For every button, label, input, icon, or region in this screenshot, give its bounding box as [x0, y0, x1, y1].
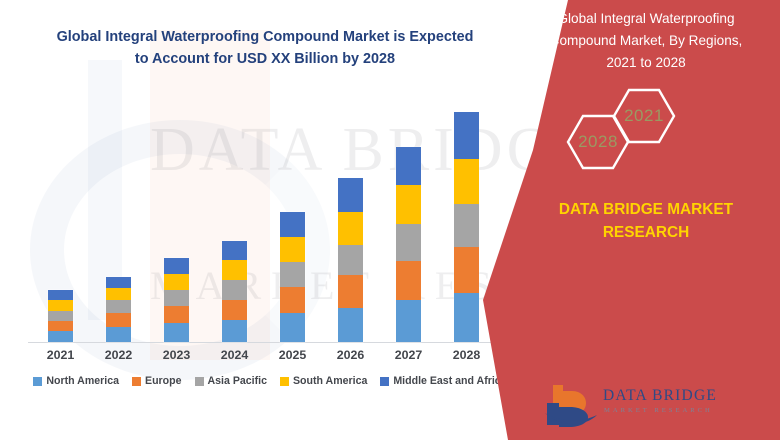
legend-label: South America [293, 375, 367, 387]
bar-2021 [48, 290, 73, 342]
legend-swatch-icon [33, 377, 42, 386]
bar-segment-north-america [280, 313, 305, 342]
bar-segment-asia-pacific [280, 262, 305, 287]
x-axis-label-2024: 2024 [206, 348, 264, 362]
bar-2027 [396, 147, 421, 342]
legend-item-europe[interactable]: Europe [132, 375, 182, 387]
bar-segment-north-america [396, 300, 421, 342]
side-panel-brand-line-2: RESEARCH [603, 224, 689, 241]
chart-title-line-2: to Account for USD XX Billion by 2028 [135, 51, 395, 67]
bar-2024 [222, 241, 247, 342]
bar-segment-middle-east-and-africa [338, 178, 363, 212]
hexagon-label-2021: 2021 [612, 102, 676, 130]
bar-segment-asia-pacific [396, 224, 421, 261]
chart-panel: Global Integral Waterproofing Compound M… [0, 0, 540, 440]
bar-segment-north-america [454, 293, 479, 342]
bar-segment-middle-east-and-africa [164, 258, 189, 274]
bar-segment-south-america [338, 212, 363, 245]
x-axis-tick-labels: 20212022202320242025202620272028 [20, 348, 520, 366]
bar-segment-north-america [106, 327, 131, 342]
legend-item-south-america[interactable]: South America [280, 375, 367, 387]
hexagon-label-2028: 2028 [566, 128, 630, 156]
bar-segment-asia-pacific [164, 290, 189, 306]
brand-logo-tagline: MARKET RESEARCH [604, 407, 713, 414]
bar-segment-middle-east-and-africa [48, 290, 73, 300]
bar-segment-europe [338, 275, 363, 308]
bar-segment-north-america [48, 331, 73, 342]
bar-segment-middle-east-and-africa [454, 112, 479, 159]
brand-logo-mark-icon [545, 383, 601, 429]
legend-item-north-america[interactable]: North America [33, 375, 119, 387]
side-panel-title-line-1: Global Integral Waterproofing [557, 11, 734, 26]
bar-segment-asia-pacific [222, 280, 247, 300]
side-panel-title-line-3: 2021 to 2028 [606, 55, 685, 70]
bar-segment-north-america [222, 320, 247, 342]
bar-segment-north-america [338, 308, 363, 342]
bar-segment-asia-pacific [454, 204, 479, 247]
brand-logo: DATA BRIDGE MARKET RESEARCH [545, 383, 745, 431]
bar-segment-asia-pacific [48, 311, 73, 321]
bar-segment-europe [222, 300, 247, 320]
x-axis-label-2022: 2022 [90, 348, 148, 362]
hexagon-group: 2021 2028 [528, 86, 764, 196]
bar-segment-asia-pacific [106, 300, 131, 313]
x-axis-line [28, 342, 520, 343]
bar-segment-europe [454, 247, 479, 293]
x-axis-label-2026: 2026 [322, 348, 380, 362]
bar-segment-middle-east-and-africa [280, 212, 305, 237]
chart-legend: North AmericaEuropeAsia PacificSouth Ame… [20, 375, 520, 387]
x-axis-label-2028: 2028 [438, 348, 496, 362]
legend-item-asia-pacific[interactable]: Asia Pacific [195, 375, 267, 387]
legend-item-middle-east-and-africa[interactable]: Middle East and Africa [380, 375, 506, 387]
chart-title: Global Integral Waterproofing Compound M… [30, 26, 500, 71]
legend-label: Middle East and Africa [393, 375, 506, 387]
legend-label: North America [46, 375, 119, 387]
infographic-canvas: DATA BRIDGE MARKET RESEARCH Global Integ… [0, 0, 780, 440]
bar-2022 [106, 277, 131, 342]
chart-title-line-1: Global Integral Waterproofing Compound M… [57, 29, 474, 45]
bar-segment-europe [280, 287, 305, 313]
bar-segment-middle-east-and-africa [396, 147, 421, 185]
bar-segment-south-america [280, 237, 305, 262]
bar-segment-europe [48, 321, 73, 331]
legend-label: Asia Pacific [208, 375, 267, 387]
legend-swatch-icon [132, 377, 141, 386]
side-panel-title-line-2: Compound Market, By Regions, [550, 33, 743, 48]
side-panel-brand-line-1: DATA BRIDGE MARKET [559, 201, 733, 218]
bar-segment-south-america [164, 274, 189, 290]
side-panel-brand: DATA BRIDGE MARKET RESEARCH [528, 198, 764, 244]
legend-swatch-icon [380, 377, 389, 386]
x-axis-label-2025: 2025 [264, 348, 322, 362]
legend-label: Europe [145, 375, 182, 387]
bar-segment-south-america [396, 185, 421, 224]
bar-segment-europe [106, 313, 131, 327]
bar-2028 [454, 112, 479, 342]
bar-segment-south-america [454, 159, 479, 204]
bar-2026 [338, 178, 363, 342]
bar-segment-europe [396, 261, 421, 300]
bar-2023 [164, 258, 189, 342]
bar-segment-middle-east-and-africa [106, 277, 131, 288]
bar-segment-south-america [48, 300, 73, 311]
x-axis-label-2027: 2027 [380, 348, 438, 362]
bar-segment-asia-pacific [338, 245, 363, 275]
bar-segment-middle-east-and-africa [222, 241, 247, 260]
x-axis-label-2023: 2023 [148, 348, 206, 362]
bar-segment-north-america [164, 323, 189, 342]
brand-logo-name: DATA BRIDGE [603, 387, 717, 405]
bar-2025 [280, 212, 305, 342]
side-panel-title: Global Integral Waterproofing Compound M… [528, 8, 764, 73]
stacked-bar-plot-area [20, 95, 520, 343]
bar-segment-south-america [222, 260, 247, 280]
legend-swatch-icon [195, 377, 204, 386]
bar-segment-europe [164, 306, 189, 323]
legend-swatch-icon [280, 377, 289, 386]
x-axis-label-2021: 2021 [32, 348, 90, 362]
bar-segment-south-america [106, 288, 131, 300]
